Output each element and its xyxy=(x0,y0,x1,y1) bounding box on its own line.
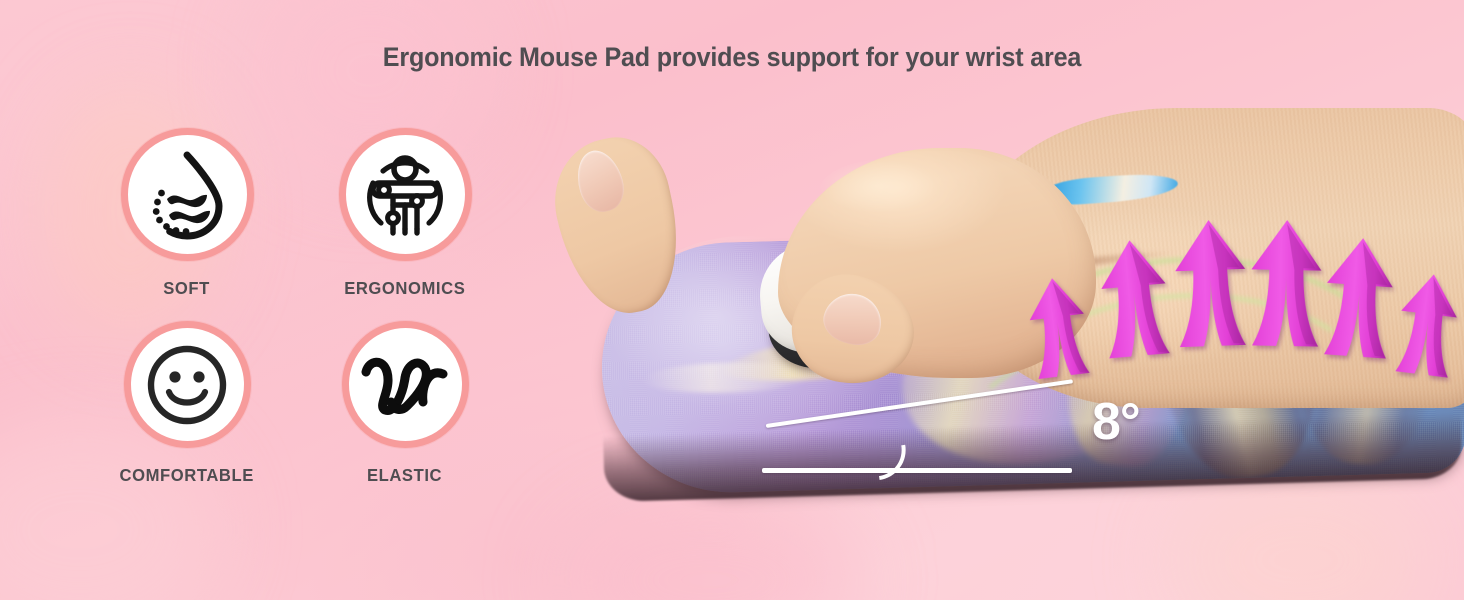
feature-label-elastic: ELASTIC xyxy=(367,465,442,486)
squiggle-spring-icon xyxy=(359,350,451,420)
feature-item-comfortable: COMFORTABLE xyxy=(78,321,296,486)
feature-label-ergonomics: ERGONOMICS xyxy=(344,278,465,299)
product-photo: 8° xyxy=(596,118,1464,548)
headline-text: Ergonomic Mouse Pad provides support for… xyxy=(51,42,1413,73)
support-arrow xyxy=(1390,269,1464,381)
water-droplet-icon xyxy=(145,149,229,241)
feature-icon-circle-ergonomics xyxy=(339,128,472,261)
feature-icon-circle-elastic xyxy=(342,321,469,448)
feature-icon-circle-soft xyxy=(121,128,254,261)
feature-item-elastic: ELASTIC xyxy=(296,321,514,486)
support-arrow xyxy=(1246,217,1326,350)
feature-item-soft: SOFT xyxy=(78,128,296,299)
feature-row-bottom: COMFORTABLE ELASTIC xyxy=(78,321,518,486)
smiley-face-icon xyxy=(144,342,230,428)
angle-value-label: 8° xyxy=(1092,396,1140,448)
product-feature-banner: Ergonomic Mouse Pad provides support for… xyxy=(0,0,1464,600)
feature-item-ergonomics: ERGONOMICS xyxy=(296,128,514,299)
ergonomic-figure-icon xyxy=(359,149,451,241)
feature-icon-circle-comfortable xyxy=(124,321,251,448)
feature-label-soft: SOFT xyxy=(164,278,211,299)
support-arrow xyxy=(1169,217,1252,352)
feature-label-comfortable: COMFORTABLE xyxy=(120,465,254,486)
feature-row-top: SOFT xyxy=(78,128,518,299)
support-arrow xyxy=(1094,235,1176,362)
knuckle-highlight xyxy=(818,158,968,228)
angle-baseline xyxy=(762,468,1072,473)
feature-grid: SOFT xyxy=(78,128,518,486)
support-arrow xyxy=(1318,234,1400,363)
support-arrow xyxy=(1022,273,1095,383)
